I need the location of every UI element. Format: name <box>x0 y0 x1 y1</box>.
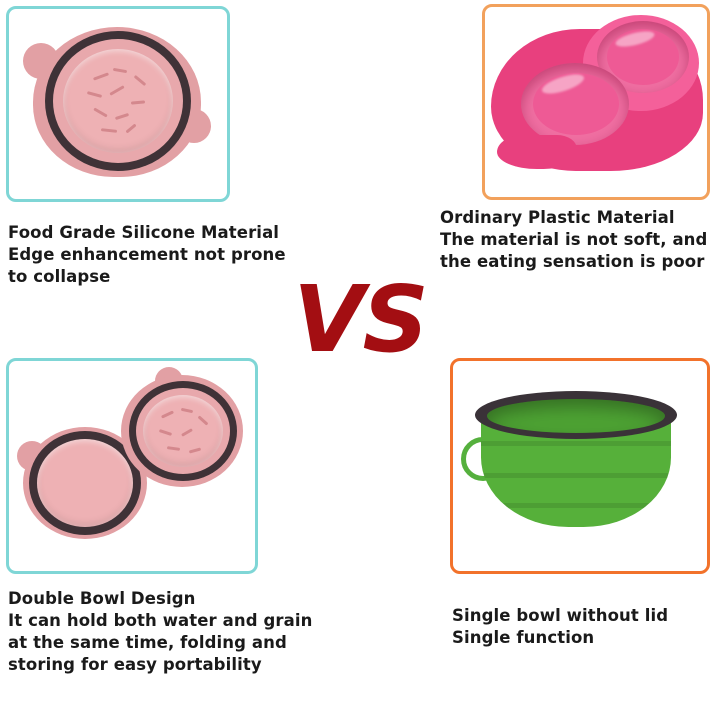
double-bowl-illustration <box>9 361 255 571</box>
caption-line: The material is not soft, and <box>440 229 720 251</box>
caption-ordinary-plastic: Ordinary Plastic Material The material i… <box>440 207 720 273</box>
plastic-bowl-foot <box>497 135 577 169</box>
image-panel-double-bowl-folded <box>6 358 258 574</box>
green-bowl-interior <box>487 399 665 433</box>
right-bowl-lid-face <box>143 395 223 467</box>
caption-line: Ordinary Plastic Material <box>440 207 720 229</box>
caption-line: the eating sensation is poor <box>440 251 720 273</box>
plastic-bowl-illustration <box>485 7 707 197</box>
caption-line: Food Grade Silicone Material <box>8 222 338 244</box>
caption-line: at the same time, folding and <box>8 632 368 654</box>
caption-line: storing for easy portability <box>8 654 368 676</box>
image-panel-green-collapsible-bowl <box>450 358 710 574</box>
comparison-infographic: Food Grade Silicone Material Edge enhanc… <box>0 0 720 720</box>
caption-line: Double Bowl Design <box>8 588 368 610</box>
green-bowl-fold-line <box>481 473 671 478</box>
green-bowl-fold-line <box>481 441 671 446</box>
green-bowl-fold-line <box>481 503 671 508</box>
silicone-bowl-illustration <box>9 9 227 199</box>
green-bowl-illustration <box>453 361 707 571</box>
caption-line: Single function <box>452 627 720 649</box>
image-panel-silicone-bowl-with-lid <box>6 6 230 202</box>
caption-line: It can hold both water and grain <box>8 610 368 632</box>
vs-label: VS <box>270 274 450 366</box>
bowl-lid-face <box>63 49 173 153</box>
caption-line: Single bowl without lid <box>452 605 720 627</box>
caption-double-bowl-design: Double Bowl Design It can hold both wate… <box>8 588 368 676</box>
caption-line: Edge enhancement not prone <box>8 244 338 266</box>
image-panel-plastic-double-bowl <box>482 4 710 200</box>
caption-single-bowl: Single bowl without lid Single function <box>452 605 720 649</box>
left-bowl-face <box>37 439 133 527</box>
